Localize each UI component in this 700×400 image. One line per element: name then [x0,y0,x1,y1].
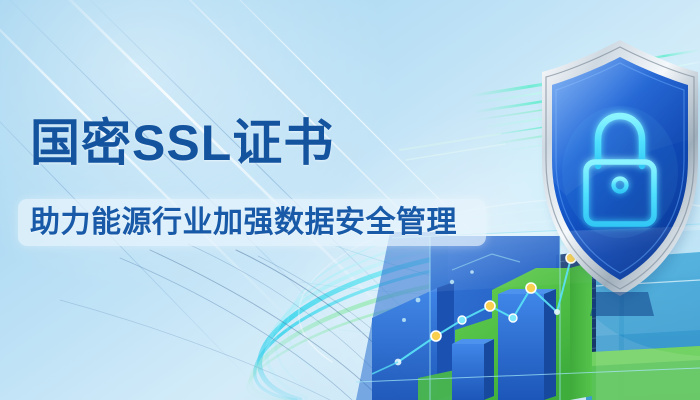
page-title: 国密SSL证书 [30,118,334,168]
text-block: 国密SSL证书 助力能源行业加强数据安全管理 [0,0,520,400]
subtitle-text: 助力能源行业加强数据安全管理 [30,206,457,240]
promo-banner: 国密SSL证书 助力能源行业加强数据安全管理 [0,0,700,400]
